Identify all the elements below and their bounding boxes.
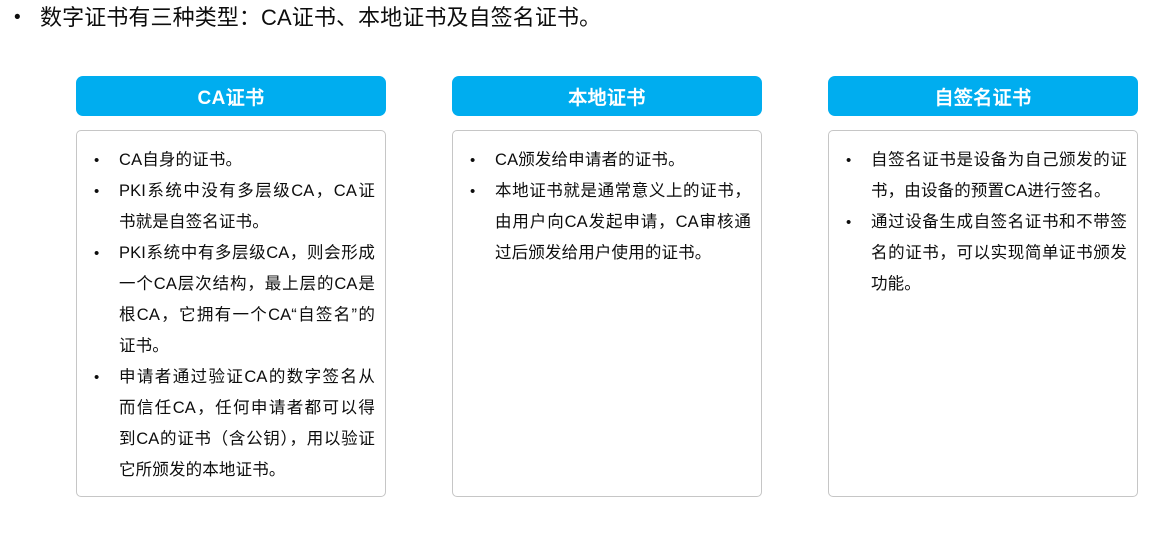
lead-text: 数字证书有三种类型：CA证书、本地证书及自签名证书。 (40, 3, 1144, 33)
column-header-self-signed-certificate: 自签名证书 (828, 76, 1138, 116)
lead-bullet-icon: • (14, 3, 40, 33)
list-item: PKI系统中有多层级CA，则会形成一个CA层次结构，最上层的CA是根CA，它拥有… (91, 238, 375, 362)
list-item: 本地证书就是通常意义上的证书，由用户向CA发起申请，CA审核通过后颁发给用户使用… (467, 176, 751, 269)
column-body-self-signed-certificate: 自签名证书是设备为自己颁发的证书，由设备的预置CA进行签名。 通过设备生成自签名… (828, 130, 1138, 497)
bullet-list-ca-certificate: CA自身的证书。 PKI系统中没有多层级CA，CA证书就是自签名证书。 PKI系… (91, 145, 375, 486)
list-item: PKI系统中没有多层级CA，CA证书就是自签名证书。 (91, 176, 375, 238)
certificate-type-columns: CA证书 CA自身的证书。 PKI系统中没有多层级CA，CA证书就是自签名证书。… (76, 76, 1138, 497)
list-item: 自签名证书是设备为自己颁发的证书，由设备的预置CA进行签名。 (843, 145, 1127, 207)
list-item: 申请者通过验证CA的数字签名从而信任CA，任何申请者都可以得到CA的证书（含公钥… (91, 362, 375, 486)
list-item: CA自身的证书。 (91, 145, 375, 176)
list-item: CA颁发给申请者的证书。 (467, 145, 751, 176)
column-ca-certificate: CA证书 CA自身的证书。 PKI系统中没有多层级CA，CA证书就是自签名证书。… (76, 76, 386, 497)
column-self-signed-certificate: 自签名证书 自签名证书是设备为自己颁发的证书，由设备的预置CA进行签名。 通过设… (828, 76, 1138, 497)
column-header-local-certificate: 本地证书 (452, 76, 762, 116)
bullet-list-local-certificate: CA颁发给申请者的证书。 本地证书就是通常意义上的证书，由用户向CA发起申请，C… (467, 145, 751, 269)
bullet-list-self-signed-certificate: 自签名证书是设备为自己颁发的证书，由设备的预置CA进行签名。 通过设备生成自签名… (843, 145, 1127, 300)
column-body-ca-certificate: CA自身的证书。 PKI系统中没有多层级CA，CA证书就是自签名证书。 PKI系… (76, 130, 386, 497)
column-local-certificate: 本地证书 CA颁发给申请者的证书。 本地证书就是通常意义上的证书，由用户向CA发… (452, 76, 762, 497)
list-item: 通过设备生成自签名证书和不带签名的证书，可以实现简单证书颁发功能。 (843, 207, 1127, 300)
column-header-ca-certificate: CA证书 (76, 76, 386, 116)
lead-bullet-line: • 数字证书有三种类型：CA证书、本地证书及自签名证书。 (14, 3, 1144, 33)
slide-canvas: • 数字证书有三种类型：CA证书、本地证书及自签名证书。 CA证书 CA自身的证… (0, 0, 1161, 536)
column-body-local-certificate: CA颁发给申请者的证书。 本地证书就是通常意义上的证书，由用户向CA发起申请，C… (452, 130, 762, 497)
